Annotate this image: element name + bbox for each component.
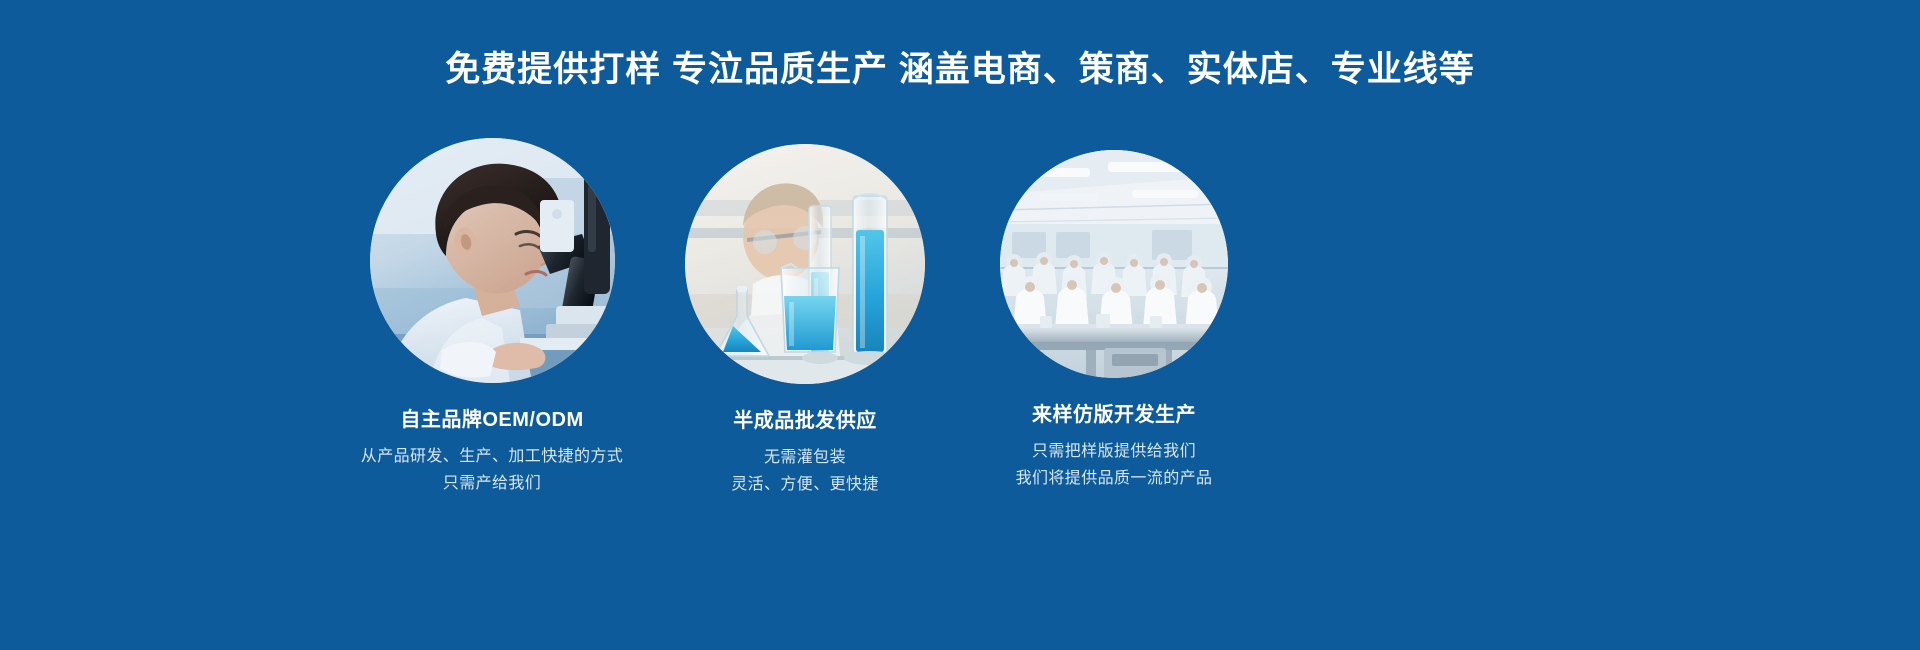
feature-caption-1: 自主品牌OEM/ODM 从产品研发、生产、加工快捷的方式 只需产给我们 — [342, 405, 642, 497]
feature-title-3: 来样仿版开发生产 — [964, 400, 1264, 430]
feature-line-3-1: 只需把样版提供给我们 — [964, 438, 1264, 465]
lab-beakers-blue-liquid-photo — [685, 144, 925, 384]
feature-line-1-1: 从产品研发、生产、加工快捷的方式 — [342, 443, 642, 470]
feature-line-1-2: 只需产给我们 — [342, 470, 642, 497]
feature-line-2-2: 灵活、方便、更快捷 — [655, 471, 955, 498]
banner-headline: 免费提供打样 专泣品质生产 涵盖电商、策商、实体店、专业线等 — [0, 46, 1920, 94]
feature-caption-3: 来样仿版开发生产 只需把样版提供给我们 我们将提供品质一流的产品 — [964, 400, 1264, 492]
feature-line-3-2: 我们将提供品质一流的产品 — [964, 465, 1264, 492]
feature-column-2: 半成品批发供应 无需灌包装 灵活、方便、更快捷 — [675, 138, 935, 498]
feature-columns: 自主品牌OEM/ODM 从产品研发、生产、加工快捷的方式 只需产给我们 — [350, 138, 1230, 498]
feature-line-2-1: 无需灌包装 — [655, 444, 955, 471]
scientist-microscope-photo — [370, 138, 615, 383]
feature-column-1: 自主品牌OEM/ODM 从产品研发、生产、加工快捷的方式 只需产给我们 — [362, 138, 622, 497]
feature-column-3: 来样仿版开发生产 只需把样版提供给我们 我们将提供品质一流的产品 — [984, 138, 1244, 492]
feature-caption-2: 半成品批发供应 无需灌包装 灵活、方便、更快捷 — [655, 406, 955, 498]
feature-title-1: 自主品牌OEM/ODM — [342, 405, 642, 435]
feature-lines-1: 从产品研发、生产、加工快捷的方式 只需产给我们 — [342, 443, 642, 497]
feature-title-2: 半成品批发供应 — [655, 406, 955, 436]
promo-banner: 免费提供打样 专泣品质生产 涵盖电商、策商、实体店、专业线等 — [0, 0, 1920, 650]
cleanroom-production-line-photo — [1000, 150, 1228, 378]
feature-lines-2: 无需灌包装 灵活、方便、更快捷 — [655, 444, 955, 498]
feature-lines-3: 只需把样版提供给我们 我们将提供品质一流的产品 — [964, 438, 1264, 492]
